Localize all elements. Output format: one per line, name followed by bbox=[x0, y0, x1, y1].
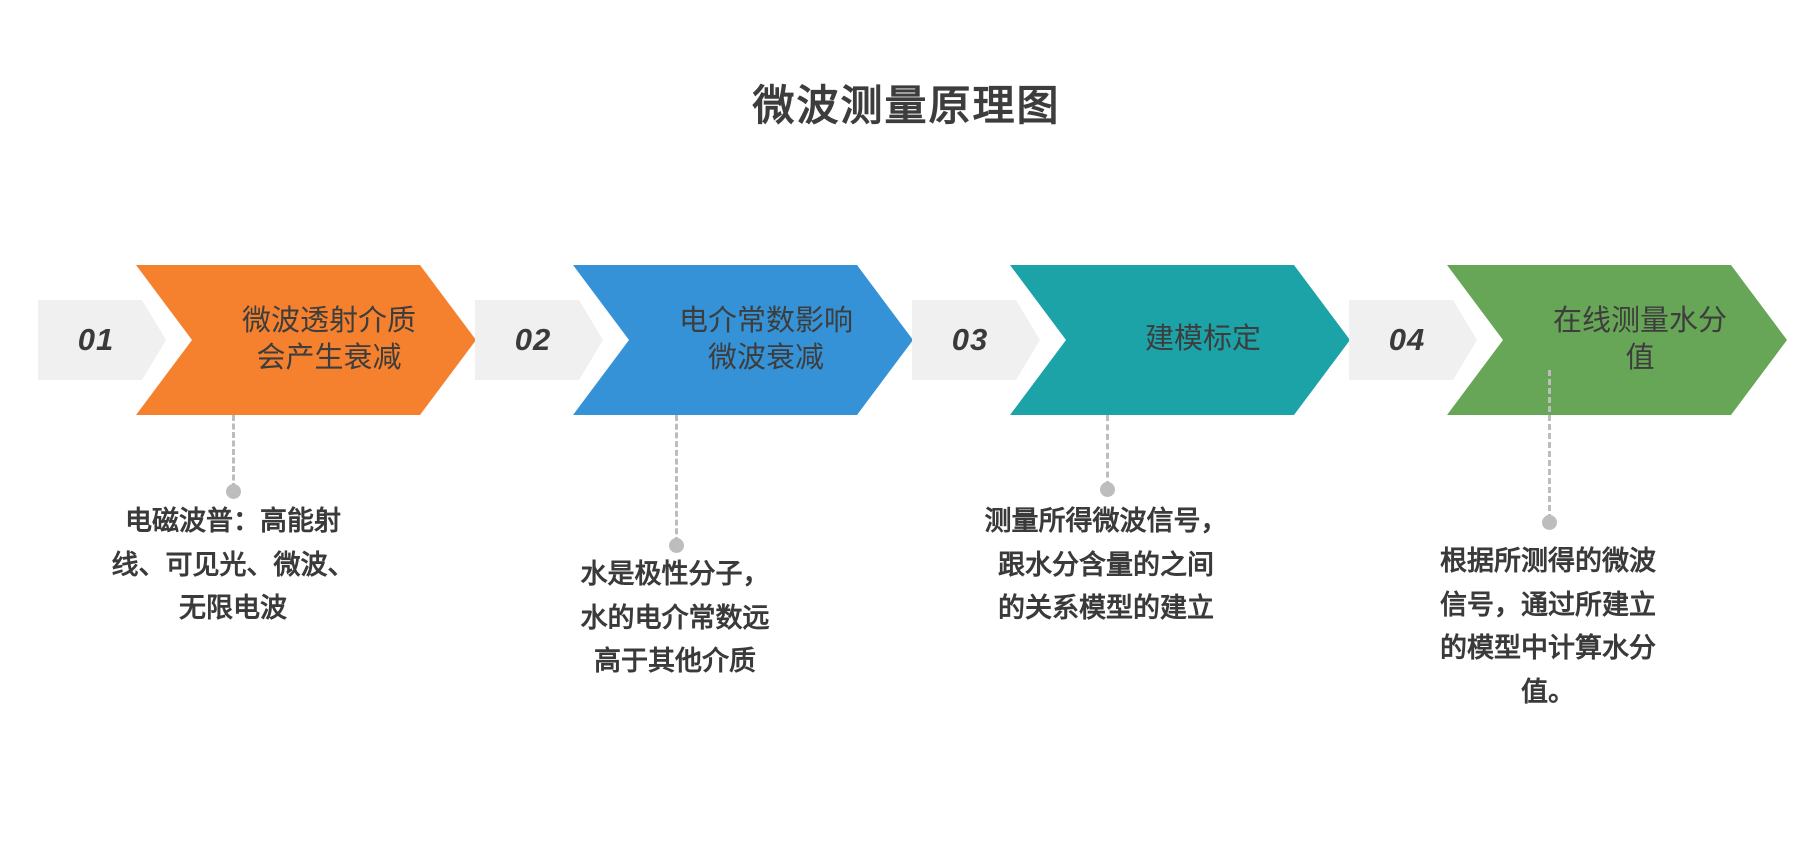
step-number-plate-04: 04 bbox=[1349, 300, 1477, 380]
connector-line-02 bbox=[675, 415, 681, 543]
step-label-03: 建模标定 bbox=[1088, 321, 1318, 358]
step-label-02: 电介常数影响 微波衰减 bbox=[651, 303, 881, 377]
step-number-03: 03 bbox=[952, 322, 1000, 358]
connector-dot-02 bbox=[669, 538, 684, 553]
step-description-02: 水是极性分子， 水的电介常数远 高于其他介质 bbox=[495, 553, 855, 684]
step-number-01: 01 bbox=[78, 322, 126, 358]
step-chevron-04[interactable]: 在线测量水分 值 bbox=[1447, 265, 1787, 415]
step-description-01: 电磁波普：高能射 线、可见光、微波、 无限电波 bbox=[48, 500, 418, 631]
connector-dot-01 bbox=[226, 484, 241, 499]
step-number-04: 04 bbox=[1389, 322, 1437, 358]
step-chevron-01[interactable]: 微波透射介质 会产生衰减 bbox=[136, 265, 476, 415]
step-chevron-02[interactable]: 电介常数影响 微波衰减 bbox=[573, 265, 913, 415]
connector-line-03 bbox=[1106, 415, 1112, 487]
step-description-03: 测量所得微波信号， 跟水分含量的之间 的关系模型的建立 bbox=[918, 500, 1294, 631]
connector-dot-04 bbox=[1542, 515, 1557, 530]
step-description-04: 根据所测得的微波 信号，通过所建立 的模型中计算水分 值。 bbox=[1370, 540, 1726, 715]
step-number-plate-03: 03 bbox=[912, 300, 1040, 380]
step-number-plate-02: 02 bbox=[475, 300, 603, 380]
step-label-04: 在线测量水分 值 bbox=[1525, 303, 1755, 377]
step-chevron-03[interactable]: 建模标定 bbox=[1010, 265, 1350, 415]
connector-dot-03 bbox=[1100, 482, 1115, 497]
step-number-plate-01: 01 bbox=[38, 300, 166, 380]
steps-row: 01 微波透射介质 会产生衰减 02 电介常数影响 微波衰减 03 建模标定 0… bbox=[0, 265, 1813, 415]
page-title: 微波测量原理图 bbox=[0, 72, 1813, 133]
step-number-02: 02 bbox=[515, 322, 563, 358]
connector-line-01 bbox=[232, 415, 238, 489]
step-label-01: 微波透射介质 会产生衰减 bbox=[214, 303, 444, 377]
connector-line-04 bbox=[1548, 370, 1554, 520]
